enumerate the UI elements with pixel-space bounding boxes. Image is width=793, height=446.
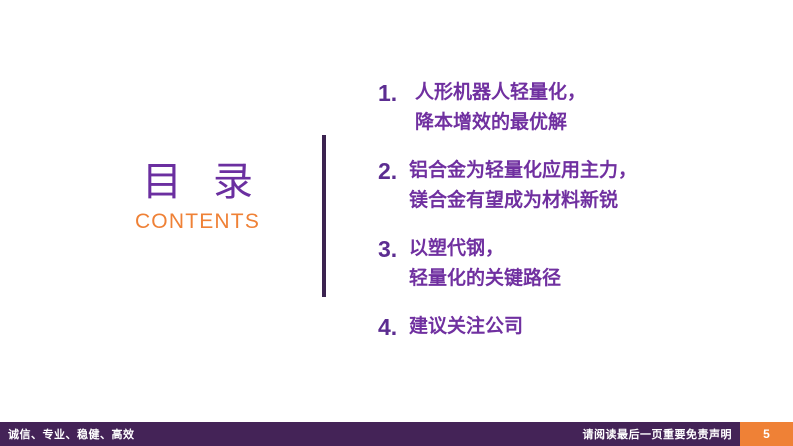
footer-slogan: 诚信、专业、稳健、高效 bbox=[0, 426, 135, 442]
list-item-line: 降本增效的最优解 bbox=[415, 108, 778, 138]
list-item-line: 镁合金有望成为材料新锐 bbox=[409, 186, 778, 216]
page-number-badge: 5 bbox=[740, 422, 793, 446]
page-subtitle: CONTENTS bbox=[95, 210, 300, 233]
toc-title-block: 目 录 CONTENTS bbox=[95, 160, 300, 233]
list-item-number: 2. bbox=[378, 156, 404, 186]
list-item-line: 铝合金为轻量化应用主力， bbox=[409, 156, 778, 186]
slide-table-of-contents: 目 录 CONTENTS 1. 人形机器人轻量化， 降本增效的最优解 2. 铝合… bbox=[0, 0, 793, 446]
list-item-line: 建议关注公司 bbox=[409, 312, 778, 342]
footer-disclaimer: 请阅读最后一页重要免责声明 bbox=[583, 422, 741, 446]
list-item-number: 3. bbox=[378, 234, 404, 264]
list-item[interactable]: 2. 铝合金为轻量化应用主力， 镁合金有望成为材料新锐 bbox=[378, 156, 778, 216]
footer-right-group: 请阅读最后一页重要免责声明 5 bbox=[583, 422, 793, 446]
list-item-line: 轻量化的关键路径 bbox=[409, 264, 778, 294]
page-title: 目 录 bbox=[95, 160, 300, 204]
list-item-line: 以塑代钢， bbox=[409, 234, 778, 264]
list-item-text: 铝合金为轻量化应用主力， 镁合金有望成为材料新锐 bbox=[404, 156, 778, 216]
list-item-text: 建议关注公司 bbox=[404, 312, 778, 342]
list-item[interactable]: 1. 人形机器人轻量化， 降本增效的最优解 bbox=[378, 78, 778, 138]
footer-bar: 诚信、专业、稳健、高效 请阅读最后一页重要免责声明 5 bbox=[0, 422, 793, 446]
list-item-number: 1. bbox=[378, 78, 404, 108]
vertical-divider bbox=[322, 135, 326, 297]
list-item-line: 人形机器人轻量化， bbox=[415, 78, 778, 108]
toc-list: 1. 人形机器人轻量化， 降本增效的最优解 2. 铝合金为轻量化应用主力， 镁合… bbox=[378, 78, 778, 342]
list-item[interactable]: 3. 以塑代钢， 轻量化的关键路径 bbox=[378, 234, 778, 294]
list-item[interactable]: 4. 建议关注公司 bbox=[378, 312, 778, 342]
list-item-text: 以塑代钢， 轻量化的关键路径 bbox=[404, 234, 778, 294]
list-item-number: 4. bbox=[378, 312, 404, 342]
list-item-text: 人形机器人轻量化， 降本增效的最优解 bbox=[404, 78, 778, 138]
